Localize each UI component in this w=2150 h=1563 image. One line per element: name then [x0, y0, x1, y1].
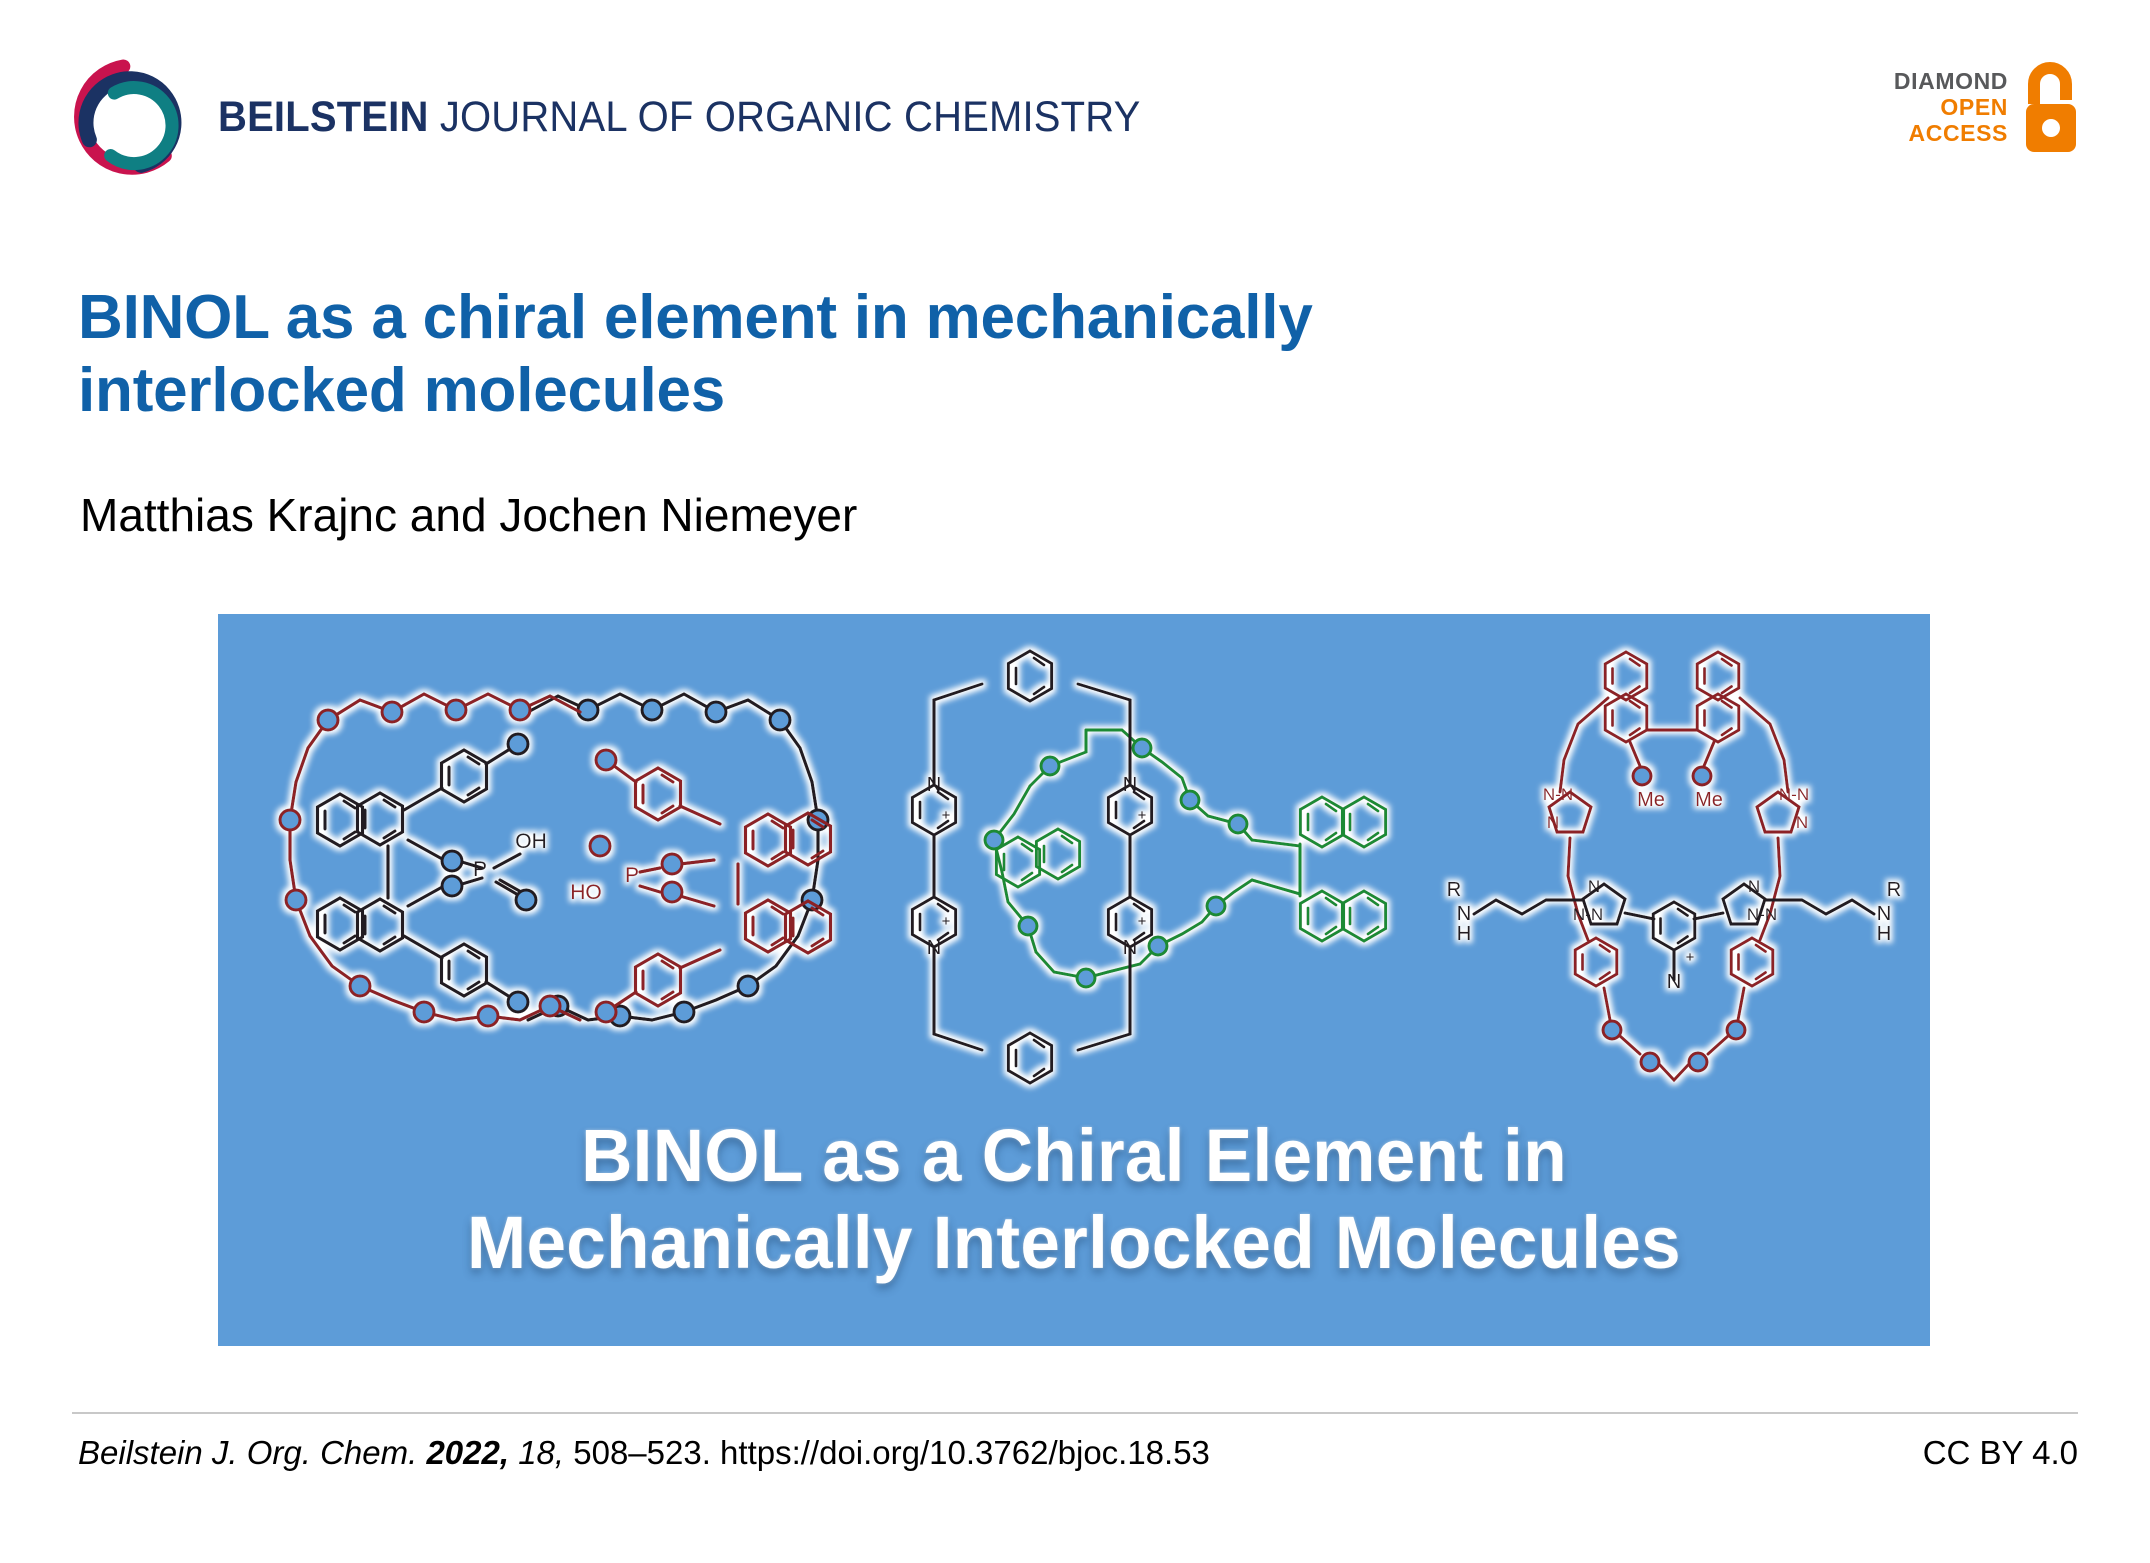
svg-text:H: H — [1877, 923, 1891, 945]
svg-text:N: N — [1123, 937, 1137, 959]
article-authors: Matthias Krajnc and Jochen Niemeyer — [80, 488, 857, 542]
page-masthead: BEILSTEIN JOURNAL OF ORGANIC CHEMISTRY D… — [0, 0, 2150, 190]
journal-title-rest: JOURNAL OF ORGANIC CHEMISTRY — [429, 93, 1141, 141]
structure-triazole-pyridinium-binol-rotaxane: Me Me N-N N N-N N — [1418, 614, 1930, 1126]
svg-text:+: + — [942, 807, 951, 824]
molecule-row: P OH — [218, 614, 1930, 1144]
svg-text:N: N — [1877, 903, 1891, 925]
abstract-banner-text: BINOL as a Chiral Element in Mechanicall… — [252, 1112, 1896, 1287]
citation-journal: Beilstein J. Org. Chem. — [78, 1434, 417, 1471]
svg-text:N: N — [1748, 877, 1760, 896]
svg-text:N: N — [1457, 903, 1471, 925]
page-title: BINOL as a chiral element in mechanicall… — [78, 282, 1578, 427]
svg-text:+: + — [1138, 913, 1147, 930]
svg-text:N: N — [1123, 774, 1137, 796]
svg-text:N: N — [927, 937, 941, 959]
svg-text:N-N: N-N — [1573, 905, 1603, 924]
svg-text:+: + — [942, 913, 951, 930]
svg-text:Me: Me — [1695, 789, 1723, 811]
journal-title-bold: BEILSTEIN — [218, 93, 429, 141]
oa-label-open: OPEN — [1894, 95, 2008, 121]
citation-year: 2022, — [417, 1434, 509, 1471]
beilstein-swirl-logo-icon — [72, 58, 190, 176]
banner-line-1: BINOL as a Chiral Element in — [252, 1112, 1896, 1199]
footer-citation: Beilstein J. Org. Chem. 2022, 18, 508–52… — [78, 1434, 1210, 1472]
open-access-labels: DIAMOND OPEN ACCESS — [1894, 69, 2008, 146]
svg-text:R: R — [1887, 879, 1901, 901]
citation-volume: 18, — [509, 1434, 564, 1471]
svg-text:N-N: N-N — [1747, 905, 1777, 924]
open-padlock-icon — [2020, 60, 2082, 156]
journal-brand: BEILSTEIN JOURNAL OF ORGANIC CHEMISTRY — [72, 58, 1210, 176]
structure-blue-box-binol-crown-rotaxane: N + N + N + N + — [890, 634, 1430, 1104]
svg-text:OH: OH — [515, 830, 547, 853]
svg-text:+: + — [1686, 949, 1695, 966]
graphical-abstract: P OH — [218, 614, 1930, 1346]
svg-text:N: N — [1547, 813, 1559, 832]
svg-text:N: N — [1667, 971, 1681, 993]
svg-text:N: N — [1796, 813, 1808, 832]
footer-divider — [72, 1412, 2078, 1414]
svg-text:HO: HO — [570, 881, 602, 904]
svg-text:N-N: N-N — [1779, 785, 1809, 804]
svg-text:N-N: N-N — [1543, 785, 1573, 804]
svg-text:P: P — [473, 858, 487, 881]
svg-text:N: N — [927, 774, 941, 796]
oa-label-diamond: DIAMOND — [1894, 69, 2008, 95]
svg-text:P: P — [625, 864, 639, 887]
structure-binol-phosphoric-acid-catenane: P OH — [228, 624, 888, 1124]
diamond-open-access-badge: DIAMOND OPEN ACCESS — [1894, 60, 2082, 156]
svg-text:Me: Me — [1637, 789, 1665, 811]
svg-text:N: N — [1588, 877, 1600, 896]
oa-label-access: ACCESS — [1894, 121, 2008, 147]
banner-line-2: Mechanically Interlocked Molecules — [252, 1199, 1896, 1286]
svg-text:R: R — [1447, 879, 1461, 901]
citation-pages-doi[interactable]: 508–523. https://doi.org/10.3762/bjoc.18… — [564, 1434, 1210, 1471]
journal-title: BEILSTEIN JOURNAL OF ORGANIC CHEMISTRY — [218, 93, 1140, 142]
svg-text:H: H — [1457, 923, 1471, 945]
license-label: CC BY 4.0 — [1923, 1434, 2078, 1472]
svg-text:+: + — [1138, 807, 1147, 824]
